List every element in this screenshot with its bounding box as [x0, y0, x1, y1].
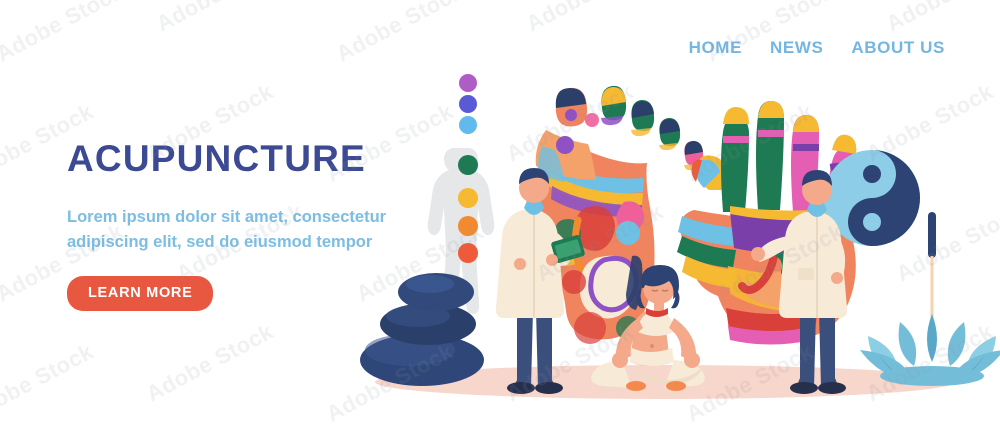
lotus-flower: [860, 314, 1000, 386]
learn-more-button[interactable]: LEARN MORE: [67, 276, 213, 311]
hero-subtitle: Lorem ipsum dolor sit amet, consectetur …: [67, 205, 387, 255]
hero-illustration: [360, 60, 1000, 444]
nav-item-home[interactable]: HOME: [689, 38, 742, 58]
watermark-text: Adobe Stock: [142, 319, 278, 408]
watermark-text: Adobe Stock: [152, 0, 288, 37]
hero-copy-block: ACUPUNCTURE Lorem ipsum dolor sit amet, …: [67, 140, 427, 311]
watermark-text: Adobe Stock: [0, 339, 98, 428]
watermark-text: Adobe Stock: [0, 0, 128, 67]
nav-item-news[interactable]: NEWS: [770, 38, 823, 58]
watermark-text: Adobe Stock: [522, 0, 658, 37]
watermark-text: Adobe Stock: [882, 0, 1000, 37]
main-navigation: HOME NEWS ABOUT US: [689, 38, 945, 58]
acupuncture-landing-page: HOME NEWS ABOUT US ACUPUNCTURE Lorem ips…: [0, 0, 1000, 444]
page-title: ACUPUNCTURE: [67, 140, 427, 179]
watermark-text: Adobe Stock: [332, 0, 468, 67]
nav-item-about-us[interactable]: ABOUT US: [851, 38, 945, 58]
